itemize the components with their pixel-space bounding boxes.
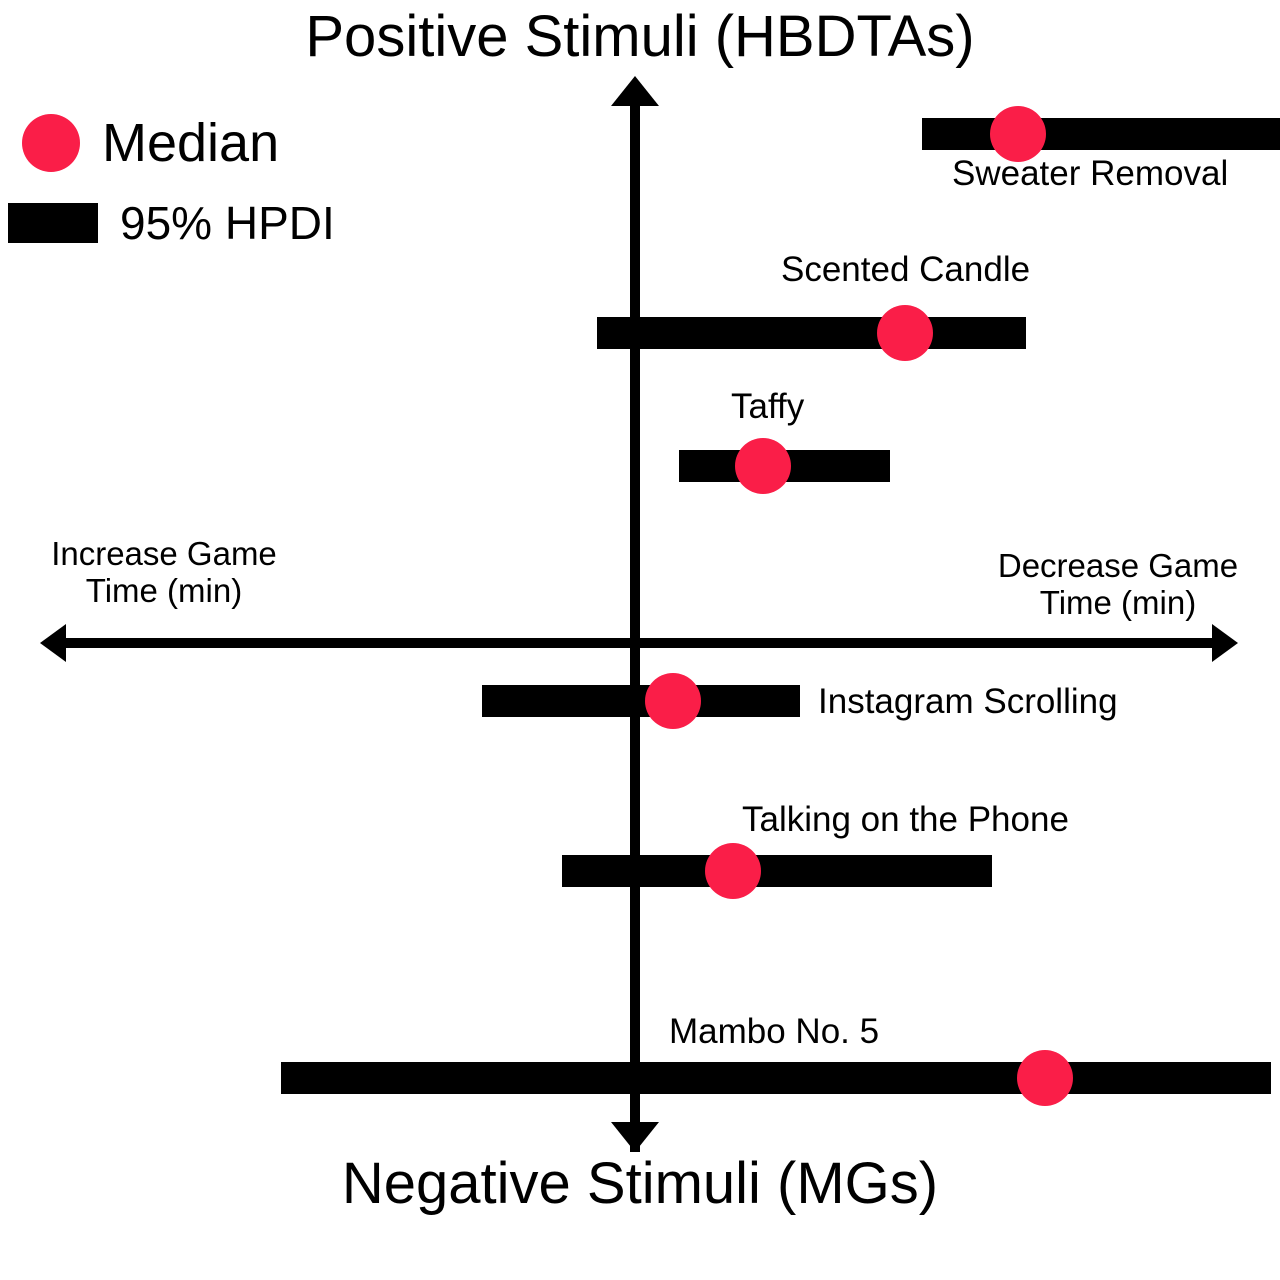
median-dot-taffy xyxy=(735,438,791,494)
page-title-negative-stimuli: Negative Stimuli (MGs) xyxy=(0,1155,1280,1213)
legend-label-hpdi: 95% HPDI xyxy=(120,200,335,246)
hpdi-bar-scented-candle xyxy=(597,317,1026,349)
hpdi-bar-mambo-no-5 xyxy=(281,1062,1271,1094)
horizontal-axis-line xyxy=(56,638,1224,648)
legend-label-median: Median xyxy=(102,116,279,170)
legend-item-hpdi: 95% HPDI xyxy=(8,200,335,246)
stimulus-label-sweater-removal: Sweater Removal xyxy=(952,156,1228,191)
page-title-positive-stimuli: Positive Stimuli (HBDTAs) xyxy=(0,8,1280,66)
median-dot-talking-on-the-phone xyxy=(705,843,761,899)
hpdi-bar-sweater-removal xyxy=(922,118,1280,150)
stimulus-label-instagram-scrolling: Instagram Scrolling xyxy=(818,684,1118,719)
axis-label-increase-game-time: Increase Game Time (min) xyxy=(14,536,314,610)
hpdi-bar-icon xyxy=(8,203,98,243)
chart-canvas: Positive Stimuli (HBDTAs) Increase Game … xyxy=(0,0,1280,1280)
axis-label-decrease-game-time: Decrease Game Time (min) xyxy=(968,548,1268,622)
median-dot-instagram-scrolling xyxy=(645,673,701,729)
stimulus-label-scented-candle: Scented Candle xyxy=(781,252,1030,287)
hpdi-bar-instagram-scrolling xyxy=(482,685,800,717)
axis-arrow-down-icon xyxy=(611,1122,659,1152)
vertical-axis-line xyxy=(630,90,640,1152)
median-dot-mambo-no-5 xyxy=(1017,1050,1073,1106)
stimulus-label-taffy: Taffy xyxy=(731,389,804,424)
stimulus-label-talking-on-the-phone: Talking on the Phone xyxy=(742,802,1069,837)
axis-arrow-right-icon xyxy=(1212,624,1238,662)
median-circle-icon xyxy=(22,114,80,172)
legend-item-median: Median xyxy=(22,114,279,172)
median-dot-scented-candle xyxy=(877,305,933,361)
stimulus-label-mambo-no-5: Mambo No. 5 xyxy=(669,1014,879,1049)
hpdi-bar-talking-on-the-phone xyxy=(562,855,992,887)
